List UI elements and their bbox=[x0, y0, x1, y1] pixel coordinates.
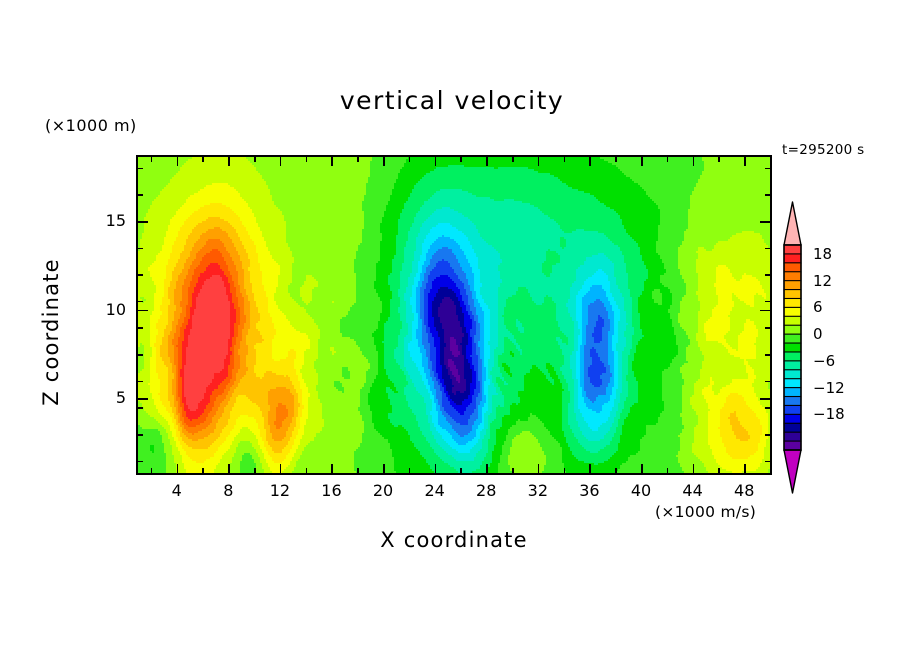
x-major-tick bbox=[641, 464, 643, 473]
z-minor-tick bbox=[765, 301, 770, 303]
page-title: vertical velocity bbox=[0, 86, 904, 115]
x-minor-tick bbox=[512, 157, 514, 162]
x-major-tick bbox=[280, 157, 282, 166]
x-minor-tick bbox=[254, 157, 256, 162]
colorbar-unit-label: (×1000 m/s) bbox=[655, 503, 756, 521]
y-axis-title: Z coordinate bbox=[39, 237, 63, 427]
y-tick-label: 5 bbox=[92, 388, 126, 407]
x-major-tick bbox=[744, 464, 746, 473]
z-minor-tick bbox=[765, 381, 770, 383]
x-major-tick bbox=[228, 157, 230, 166]
x-major-tick bbox=[177, 157, 179, 166]
figure-canvas: vertical velocity (×1000 m) t=295200 s 4… bbox=[0, 0, 904, 654]
z-major-tick bbox=[138, 398, 148, 400]
x-major-tick bbox=[383, 464, 385, 473]
x-tick-label: 24 bbox=[415, 481, 455, 500]
z-major-tick bbox=[138, 221, 148, 223]
x-minor-tick bbox=[512, 468, 514, 473]
x-major-tick bbox=[435, 464, 437, 473]
timestamp-label: t=295200 s bbox=[782, 142, 864, 158]
x-major-tick bbox=[435, 157, 437, 166]
z-major-tick bbox=[760, 221, 770, 223]
x-major-tick bbox=[331, 157, 333, 166]
z-major-tick bbox=[760, 310, 770, 312]
z-minor-tick bbox=[138, 301, 143, 303]
x-major-tick bbox=[331, 464, 333, 473]
colorbar-tick-label: 0 bbox=[813, 325, 823, 343]
z-minor-tick bbox=[138, 434, 143, 436]
x-tick-label: 36 bbox=[569, 481, 609, 500]
x-minor-tick bbox=[460, 468, 462, 473]
z-minor-tick bbox=[138, 327, 143, 329]
x-major-tick bbox=[228, 464, 230, 473]
x-tick-label: 40 bbox=[621, 481, 661, 500]
x-minor-tick bbox=[151, 468, 153, 473]
z-minor-tick bbox=[765, 461, 770, 463]
z-minor-tick bbox=[138, 354, 143, 356]
x-tick-label: 12 bbox=[260, 481, 300, 500]
x-tick-label: 48 bbox=[724, 481, 764, 500]
colorbar-tick-label: 6 bbox=[813, 298, 823, 316]
x-major-tick bbox=[589, 464, 591, 473]
x-tick-label: 28 bbox=[466, 481, 506, 500]
x-minor-tick bbox=[564, 157, 566, 162]
x-minor-tick bbox=[667, 468, 669, 473]
x-minor-tick bbox=[615, 157, 617, 162]
x-minor-tick bbox=[306, 468, 308, 473]
x-tick-label: 44 bbox=[673, 481, 713, 500]
x-major-tick bbox=[280, 464, 282, 473]
x-minor-tick bbox=[718, 468, 720, 473]
z-minor-tick bbox=[765, 168, 770, 170]
x-major-tick bbox=[693, 464, 695, 473]
colorbar-tick-label: 18 bbox=[813, 245, 832, 263]
x-minor-tick bbox=[460, 157, 462, 162]
z-minor-tick bbox=[765, 248, 770, 250]
x-minor-tick bbox=[564, 468, 566, 473]
colorbar bbox=[776, 200, 816, 495]
x-minor-tick bbox=[151, 157, 153, 162]
contour-field bbox=[138, 157, 770, 473]
x-tick-label: 4 bbox=[157, 481, 197, 500]
z-minor-tick bbox=[138, 274, 143, 276]
y-tick-label: 10 bbox=[92, 300, 126, 319]
z-minor-tick bbox=[138, 168, 143, 170]
x-minor-tick bbox=[409, 157, 411, 162]
x-minor-tick bbox=[202, 468, 204, 473]
x-major-tick bbox=[641, 157, 643, 166]
colorbar-swatches bbox=[776, 200, 816, 495]
x-tick-label: 32 bbox=[518, 481, 558, 500]
z-minor-tick bbox=[765, 354, 770, 356]
x-minor-tick bbox=[409, 468, 411, 473]
x-minor-tick bbox=[202, 157, 204, 162]
x-major-tick bbox=[744, 157, 746, 166]
x-tick-label: 8 bbox=[208, 481, 248, 500]
z-minor-tick bbox=[138, 407, 143, 409]
z-minor-tick bbox=[765, 407, 770, 409]
x-major-tick bbox=[538, 157, 540, 166]
x-minor-tick bbox=[667, 157, 669, 162]
x-minor-tick bbox=[254, 468, 256, 473]
x-major-tick bbox=[486, 464, 488, 473]
z-minor-tick bbox=[138, 248, 143, 250]
x-major-tick bbox=[589, 157, 591, 166]
contour-plot-area bbox=[136, 155, 772, 475]
z-minor-tick bbox=[765, 194, 770, 196]
x-minor-tick bbox=[718, 157, 720, 162]
y-tick-label: 15 bbox=[92, 211, 126, 230]
x-major-tick bbox=[177, 464, 179, 473]
z-major-tick bbox=[760, 398, 770, 400]
y-axis-unit-label: (×1000 m) bbox=[45, 116, 137, 135]
x-minor-tick bbox=[306, 157, 308, 162]
colorbar-tick-label: 12 bbox=[813, 272, 832, 290]
z-minor-tick bbox=[765, 327, 770, 329]
z-minor-tick bbox=[138, 461, 143, 463]
z-minor-tick bbox=[138, 194, 143, 196]
x-tick-label: 20 bbox=[363, 481, 403, 500]
x-tick-label: 16 bbox=[311, 481, 351, 500]
z-minor-tick bbox=[138, 381, 143, 383]
x-minor-tick bbox=[357, 468, 359, 473]
x-major-tick bbox=[486, 157, 488, 166]
x-major-tick bbox=[538, 464, 540, 473]
x-minor-tick bbox=[357, 157, 359, 162]
z-minor-tick bbox=[765, 434, 770, 436]
x-major-tick bbox=[383, 157, 385, 166]
z-major-tick bbox=[138, 310, 148, 312]
colorbar-tick-label: −18 bbox=[813, 405, 845, 423]
z-minor-tick bbox=[765, 274, 770, 276]
colorbar-tick-label: −6 bbox=[813, 352, 835, 370]
x-axis-title: X coordinate bbox=[136, 528, 772, 552]
x-minor-tick bbox=[615, 468, 617, 473]
x-major-tick bbox=[693, 157, 695, 166]
colorbar-tick-label: −12 bbox=[813, 379, 845, 397]
